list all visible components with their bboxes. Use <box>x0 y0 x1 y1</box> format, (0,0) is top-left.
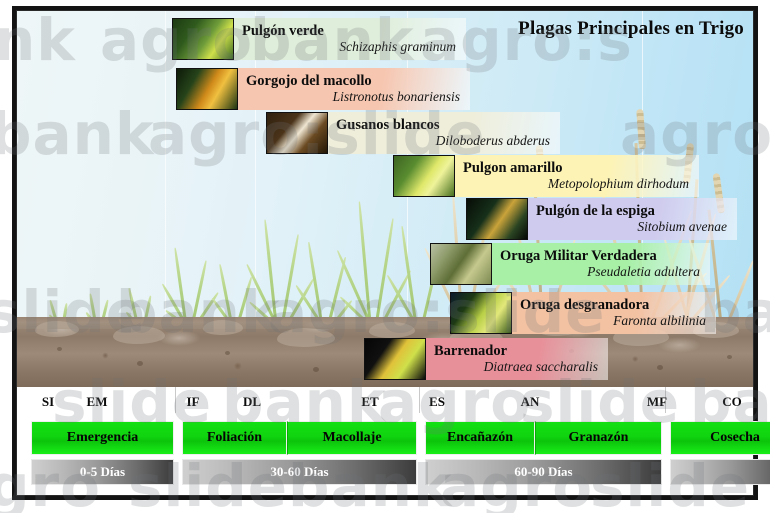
pest-card[interactable]: Oruga desgranadoraFaronta albilinia <box>450 292 716 334</box>
pest-name-box: BarrenadorDiatraea saccharalis <box>422 338 608 380</box>
pest-scientific-name: Pseudaletia adultera <box>500 264 700 279</box>
phase-emergencia[interactable]: Emergencia <box>31 421 174 455</box>
pest-name-box: Pulgón verdeSchizaphis graminum <box>230 18 466 60</box>
group-foliacion-macollaje: FoliaciónMacollaje <box>182 421 417 455</box>
pest-scientific-name: Listronotus bonariensis <box>246 89 460 104</box>
phase-granaz-n[interactable]: Granazón <box>535 421 662 455</box>
pest-card[interactable]: Oruga Militar VerdaderaPseudaletia adult… <box>430 243 710 285</box>
phase-cosecha[interactable]: Cosecha <box>670 421 770 455</box>
stage-code-co: CO <box>722 394 742 410</box>
pest-scientific-name: Sitobium avenae <box>536 219 727 234</box>
pest-common-name: Oruga desgranadora <box>520 297 706 313</box>
stage-code-si: SI <box>42 394 54 410</box>
stage-code-es: ES <box>429 394 445 410</box>
stage-code-em: EM <box>87 394 108 410</box>
days-bar-row: 0-5 Días30-60 Días60-90 Días <box>17 459 753 485</box>
pest-card[interactable]: Gorgojo del macolloListronotus bonariens… <box>176 68 470 110</box>
pest-common-name: Pulgón verde <box>242 23 456 39</box>
phase-macollaje[interactable]: Macollaje <box>287 421 417 455</box>
stage-code-if: IF <box>187 394 200 410</box>
borer-photo <box>364 338 426 380</box>
stage-code-an: AN <box>521 394 540 410</box>
pest-name-box: Pulgon amarilloMetopolophium dirhodum <box>451 155 699 197</box>
armyworm-photo <box>430 243 492 285</box>
pest-common-name: Pulgón de la espiga <box>536 203 727 219</box>
pest-name-box: Gorgojo del macolloListronotus bonariens… <box>234 68 470 110</box>
growth-stage-timeline: SIEMIFDLETESANMFCO EmergenciaFoliaciónMa… <box>17 387 753 495</box>
stage-code-mf: MF <box>647 394 667 410</box>
pest-name-box: Oruga Militar VerdaderaPseudaletia adult… <box>488 243 710 285</box>
pest-common-name: Gorgojo del macollo <box>246 73 460 89</box>
pest-timeline-poster: Pulgón verdeSchizaphis graminumGorgojo d… <box>0 0 770 513</box>
days-bar-3 <box>670 459 770 485</box>
pest-scientific-name: Faronta albilinia <box>520 313 706 328</box>
timeline-separator-2 <box>419 387 420 413</box>
stage-code-dl: DL <box>243 394 261 410</box>
pest-scientific-name: Metopolophium dirhodum <box>463 176 689 191</box>
white-grub-photo <box>266 112 328 154</box>
group-cosecha: Cosecha <box>670 421 770 455</box>
yellow-aphid-photo <box>393 155 455 197</box>
group-emergencia: Emergencia <box>31 421 174 455</box>
green-aphid-photo <box>172 18 234 60</box>
pest-name-box: Gusanos blancosDiloboderus abderus <box>324 112 560 154</box>
pest-common-name: Gusanos blancos <box>336 117 550 133</box>
phase-foliaci-n[interactable]: Foliación <box>182 421 287 455</box>
pest-card[interactable]: Pulgón verdeSchizaphis graminum <box>172 18 466 60</box>
timeline-separator-1 <box>175 387 176 413</box>
pest-card[interactable]: Pulgón de la espigaSitobium avenae <box>466 198 737 240</box>
days-bar-2: 60-90 Días <box>425 459 662 485</box>
pest-scientific-name: Schizaphis graminum <box>242 39 456 54</box>
weevil-photo <box>176 68 238 110</box>
days-bar-1: 30-60 Días <box>182 459 417 485</box>
pest-common-name: Pulgon amarillo <box>463 160 689 176</box>
phase-bar-row: EmergenciaFoliaciónMacollajeEncañazónGra… <box>17 421 753 455</box>
pest-scientific-name: Diatraea saccharalis <box>434 359 598 374</box>
wheat-spike <box>636 109 646 149</box>
pest-common-name: Oruga Militar Verdadera <box>500 248 700 264</box>
phase-enca-az-n[interactable]: Encañazón <box>425 421 535 455</box>
grain-cutworm-photo <box>450 292 512 334</box>
pest-scientific-name: Diloboderus abderus <box>336 133 550 148</box>
spike-aphid-photo <box>466 198 528 240</box>
days-bar-0: 0-5 Días <box>31 459 174 485</box>
pest-name-box: Oruga desgranadoraFaronta albilinia <box>508 292 716 334</box>
page-title: Plagas Principales en Trigo <box>518 18 744 40</box>
pest-common-name: Barrenador <box>434 343 598 359</box>
pest-card[interactable]: BarrenadorDiatraea saccharalis <box>364 338 608 380</box>
pest-card[interactable]: Pulgon amarilloMetopolophium dirhodum <box>393 155 699 197</box>
pest-card[interactable]: Gusanos blancosDiloboderus abderus <box>266 112 560 154</box>
group-encanazon-granazon: EncañazónGranazón <box>425 421 662 455</box>
pest-name-box: Pulgón de la espigaSitobium avenae <box>524 198 737 240</box>
stage-code-et: ET <box>361 394 378 410</box>
